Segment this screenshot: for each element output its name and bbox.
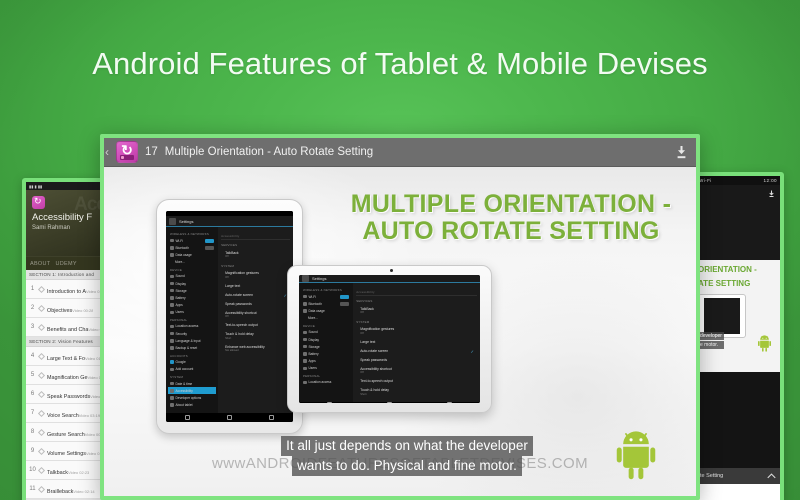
accessibility-item: Speak passwords	[221, 299, 290, 308]
status-diamond-icon	[38, 466, 45, 473]
settings-item-label: Location access	[176, 324, 199, 328]
video-stage[interactable]: MULTIPLE ORIENTATION - AUTO ROTATE SETTI…	[104, 167, 696, 496]
settings-item: Location access	[168, 323, 216, 330]
developer-icon	[170, 396, 174, 400]
display-icon	[170, 282, 174, 286]
status-diamond-icon	[38, 390, 45, 397]
settings-item-label: Developer options	[176, 396, 202, 400]
settings-item-label: Storage	[176, 289, 187, 293]
settings-item: Storage	[168, 287, 216, 294]
status-diamond-icon	[38, 285, 45, 292]
group-header: SYSTEM	[356, 320, 477, 324]
list-item[interactable]: 11 BraillebackVideo 02:14	[26, 480, 108, 499]
list-item[interactable]: 2 ObjectivesVideo 00:28	[26, 299, 108, 318]
item-title: Large Text & Fo	[47, 356, 85, 362]
accessibility-item: Text-to-speech output	[221, 321, 290, 330]
camera-icon	[390, 269, 393, 272]
accessibility-item: Text-to-speech output	[356, 377, 477, 386]
list-item[interactable]: 10 TalkbackVideo 02:23	[26, 461, 108, 480]
bluetooth-icon	[170, 246, 174, 250]
right-slide-title-line2: ATE SETTING	[696, 274, 780, 288]
settings-group-header: DEVICE	[170, 268, 216, 272]
language-icon	[170, 339, 174, 343]
accessibility-item: Accessibility shortcutOff	[356, 364, 477, 377]
settings-item: Storage	[301, 343, 351, 350]
tablet-landscape-screen: Settings WIRELESS & NETWORKS Wi-Fi Bluet…	[299, 275, 480, 403]
tab-about[interactable]: ABOUT	[30, 261, 50, 267]
item-label: Text-to-speech output	[225, 323, 290, 327]
item-label: Auto-rotate screen	[360, 349, 477, 353]
settings-item-label: Sound	[309, 330, 318, 334]
settings-item-label: Language & input	[176, 339, 201, 343]
subtitle-caption: It all just depends on what the develope…	[222, 436, 592, 476]
settings-item: Battery	[168, 294, 216, 301]
right-panel-bottom-bar[interactable]: te Setting	[696, 468, 780, 484]
settings-item-label: Display	[176, 282, 186, 286]
left-panel-status-bar: ▮▮ ▮ ▮▮	[26, 182, 108, 190]
list-item[interactable]: 5 Magnification GeVideo 01:53	[26, 366, 108, 385]
group-header: SERVICES	[356, 299, 477, 303]
bluetooth-toggle[interactable]	[205, 246, 214, 250]
settings-item-label: Bluetooth	[309, 302, 322, 306]
settings-group-header: SYSTEM	[170, 375, 216, 379]
battery-icon	[303, 352, 307, 356]
location-icon	[303, 381, 307, 385]
settings-item: Wi-Fi	[301, 293, 351, 300]
settings-item-label: Data usage	[176, 253, 192, 257]
lecture-number: 17	[145, 146, 158, 158]
settings-item-label: Date & time	[176, 382, 193, 386]
item-sub: Off	[360, 332, 477, 335]
settings-item: Google	[168, 359, 216, 366]
recents-icon[interactable]	[269, 415, 274, 420]
data-usage-icon	[170, 253, 174, 257]
android-nav-bar[interactable]	[166, 413, 293, 422]
bluetooth-icon	[303, 302, 307, 306]
settings-item: Apps	[168, 302, 216, 309]
group-header: SERVICES	[221, 243, 290, 247]
item-label: Speak passwords	[360, 358, 477, 362]
accessibility-item: Magnification gesturesOff	[356, 325, 477, 338]
settings-item-label: More...	[308, 316, 318, 320]
caption-line2: wants to do. Physical and fine motor.	[292, 456, 522, 476]
auto-rotate-icon: ↻	[116, 141, 138, 163]
google-icon	[170, 360, 174, 364]
list-item[interactable]: 8 Gesture SearchVideo 00:37	[26, 423, 108, 442]
settings-item-accessibility[interactable]: Accessibility	[168, 387, 216, 394]
status-diamond-icon	[38, 447, 45, 454]
settings-item-label: Sound	[176, 274, 185, 278]
wifi-icon	[170, 239, 174, 243]
settings-item: Bluetooth	[301, 300, 351, 307]
item-title: Gesture Search	[47, 432, 85, 438]
right-slide-title-line1: ORIENTATION -	[696, 260, 780, 274]
right-slide-caption: developer e motor.	[698, 332, 724, 350]
about-icon	[170, 403, 174, 407]
settings-item-label: Users	[309, 366, 317, 370]
item-meta: Video 00:28	[72, 308, 93, 313]
settings-item-label: Add account	[176, 367, 194, 371]
item-title: Brailleback	[47, 489, 73, 495]
item-number: 10	[29, 467, 36, 473]
item-sub: Short	[225, 337, 290, 340]
accessibility-item-auto-rotate: Auto-rotate screen✓	[356, 346, 477, 355]
slide-title-line1: MULTIPLE ORIENTATION -	[326, 191, 696, 218]
settings-item: More...	[301, 315, 351, 322]
accessibility-item: Large text	[221, 281, 290, 290]
settings-item-label: Storage	[309, 345, 320, 349]
left-background-screenshot: ▮▮ ▮ ▮▮ Acc Accessibility F Sami Rahman …	[22, 178, 112, 500]
chevron-up-icon[interactable]	[767, 473, 776, 479]
add-account-icon	[170, 368, 174, 372]
lecture-title: Multiple Orientation - Auto Rotate Setti…	[165, 146, 373, 158]
tablet-portrait-device: Settings WIRELESS & NETWORKS Wi-Fi Bluet…	[156, 199, 303, 434]
settings-item-label: Battery	[176, 296, 186, 300]
status-diamond-icon	[38, 409, 45, 416]
item-title: Objectives	[47, 308, 72, 314]
item-meta: Video 03:19	[79, 413, 100, 418]
right-bottom-label: te Setting	[700, 473, 723, 479]
settings-item: Developer options	[168, 394, 216, 401]
settings-item-label: Google	[176, 360, 186, 364]
item-sub: Short	[360, 393, 477, 396]
settings-item-label: Users	[176, 310, 184, 314]
item-sub: Off	[360, 371, 477, 374]
list-item[interactable]: 1 Introduction to AVideo 01:39	[26, 280, 108, 299]
storage-icon	[170, 289, 174, 293]
item-label: Accessibility shortcut	[360, 367, 477, 371]
settings-item: Security	[168, 330, 216, 337]
tab-udemy[interactable]: UDEMY	[55, 261, 76, 267]
apps-icon	[170, 303, 174, 307]
item-label: Touch & hold delay	[225, 332, 290, 336]
left-panel-tabs[interactable]: ABOUT UDEMY	[26, 256, 108, 270]
accessibility-item: Touch & hold delayShort	[356, 386, 477, 399]
settings-left-list[interactable]: WIRELESS & NETWORKS Wi-Fi Bluetooth Data…	[299, 283, 353, 402]
settings-group-header: DEVICE	[303, 324, 351, 328]
download-icon[interactable]	[675, 145, 688, 160]
accessibility-item: Magnification gesturesOff	[221, 269, 290, 282]
right-background-screenshot: Wi-Fi 12:00 ORIENTATION - ATE SETTING de…	[692, 172, 784, 500]
player-header: ‹ ↻ 17 Multiple Orientation - Auto Rotat…	[104, 138, 696, 167]
accessibility-item: Large text	[356, 337, 477, 346]
wifi-toggle[interactable]	[340, 295, 349, 299]
users-icon	[170, 311, 174, 315]
list-item[interactable]: 7 Voice SearchVideo 03:19	[26, 404, 108, 423]
accessibility-item: TalkBackOff	[221, 248, 290, 261]
sound-icon	[303, 331, 307, 335]
item-meta: Video 02:23	[68, 470, 89, 475]
item-number: 7	[29, 410, 36, 416]
settings-item-label: Security	[176, 332, 188, 336]
location-icon	[170, 325, 174, 329]
status-left: Wi-Fi	[699, 178, 712, 183]
display-icon	[303, 338, 307, 342]
accessibility-detail-list[interactable]: Accessibility SERVICES TalkBackOff SYSTE…	[218, 227, 293, 413]
item-sub: Not allowed	[225, 349, 290, 352]
settings-app-bar-title: Settings	[179, 219, 193, 224]
android-nav-bar[interactable]	[299, 402, 480, 403]
settings-item-label: Apps	[309, 359, 316, 363]
settings-item: About tablet	[168, 402, 216, 409]
item-title: Voice Search	[47, 413, 79, 419]
accessibility-item: Accessibility shortcutOff	[221, 308, 290, 321]
right-panel-status-bar: Wi-Fi 12:00	[696, 176, 780, 185]
chevron-left-icon[interactable]: ‹	[105, 145, 109, 159]
list-item[interactable]: 4 Large Text & FoVideo 01:39	[26, 347, 108, 366]
item-title: Talkback	[47, 470, 68, 476]
status-diamond-icon	[38, 371, 45, 378]
home-icon[interactable]	[227, 415, 232, 420]
item-sub: Off	[225, 255, 290, 258]
tablet-portrait-screen: Settings WIRELESS & NETWORKS Wi-Fi Bluet…	[166, 211, 293, 422]
android-action-bar: Settings	[299, 275, 480, 283]
settings-item: Display	[301, 336, 351, 343]
right-panel-slide: ORIENTATION - ATE SETTING developer e mo…	[696, 260, 780, 372]
settings-item-label: Wi-Fi	[176, 239, 183, 243]
item-title: Speak Passwords	[47, 394, 90, 400]
accessibility-item: Speak passwords	[356, 355, 477, 364]
settings-left-list[interactable]: WIRELESS & NETWORKS Wi-Fi Bluetooth Data…	[166, 227, 218, 413]
settings-item-label: Wi-Fi	[309, 295, 316, 299]
settings-item: Users	[168, 309, 216, 316]
accessibility-item: Touch & hold delayShort	[221, 330, 290, 343]
status-diamond-icon	[38, 323, 45, 330]
accessibility-icon	[170, 389, 174, 393]
accessibility-item-auto-rotate: Auto-rotate screen✓	[221, 290, 290, 299]
right-panel-dark-area	[696, 372, 780, 468]
accessibility-item: TalkBackOff	[356, 304, 477, 317]
security-icon	[170, 332, 174, 336]
settings-group-header: PERSONAL	[170, 318, 216, 322]
item-number: 9	[29, 448, 36, 454]
settings-group-header: WIRELESS & NETWORKS	[170, 232, 216, 236]
item-label: Touch & hold delay	[360, 388, 477, 392]
settings-item: Bluetooth	[168, 244, 216, 251]
settings-item: Sound	[168, 273, 216, 280]
settings-item: Data usage	[168, 251, 216, 258]
section-header: SECTION 1: Introduction and	[26, 270, 108, 280]
group-header: SYSTEM	[221, 264, 290, 268]
apps-icon	[303, 359, 307, 363]
settings-item: Data usage	[301, 307, 351, 314]
settings-item: Location access	[301, 379, 351, 386]
right-caption-line1: developer	[698, 332, 724, 340]
item-label: Large text	[225, 284, 290, 288]
settings-item: Wi-Fi	[168, 237, 216, 244]
status-diamond-icon	[38, 485, 45, 492]
settings-item: More...	[168, 259, 216, 266]
accessibility-detail-list[interactable]: Accessibility SERVICES TalkBackOff SYSTE…	[353, 283, 480, 402]
settings-item: Apps	[301, 358, 351, 365]
section-header: SECTION 2: Vision Features	[26, 337, 108, 347]
storage-icon	[303, 345, 307, 349]
settings-gear-icon	[169, 218, 176, 225]
course-author: Sami Rahman	[32, 225, 102, 231]
right-caption-line2: e motor.	[698, 341, 724, 349]
checkmark-icon[interactable]: ✓	[471, 349, 474, 354]
status-diamond-icon	[38, 428, 45, 435]
home-icon[interactable]	[387, 402, 392, 403]
status-diamond-icon	[38, 352, 45, 359]
settings-item: Users	[301, 365, 351, 372]
settings-group-header: WIRELESS & NETWORKS	[303, 288, 351, 292]
settings-gear-icon	[302, 275, 309, 282]
accessibility-item: Enhance web accessibilityNot allowed	[221, 342, 290, 355]
settings-item-label: Battery	[309, 352, 319, 356]
item-label: Large text	[360, 340, 477, 344]
item-label: Auto-rotate screen	[225, 293, 290, 297]
settings-app-bar-title: Settings	[312, 276, 326, 281]
item-title: Benefits and Cha	[47, 327, 88, 333]
settings-item-label: Apps	[176, 303, 183, 307]
accessibility-title: Accessibility	[356, 290, 477, 294]
data-usage-icon	[303, 309, 307, 313]
item-number: 11	[29, 486, 36, 492]
item-title: Volume Settings	[47, 451, 86, 457]
settings-item-label: About tablet	[176, 403, 193, 407]
back-icon[interactable]	[185, 415, 190, 420]
settings-group-header: PERSONAL	[303, 374, 351, 378]
settings-item: Battery	[301, 350, 351, 357]
curriculum-list[interactable]: SECTION 1: Introduction and 1 Introducti…	[26, 270, 108, 500]
slide-title: MULTIPLE ORIENTATION - AUTO ROTATE SETTI…	[326, 191, 696, 245]
item-number: 2	[29, 305, 36, 311]
settings-group-header: ACCOUNTS	[170, 354, 216, 358]
sound-icon	[170, 275, 174, 279]
settings-item: Backup & reset	[168, 344, 216, 351]
item-sub: Off	[225, 315, 290, 318]
settings-item: Sound	[301, 329, 351, 336]
date-time-icon	[170, 382, 174, 386]
back-icon[interactable]	[327, 402, 332, 403]
android-action-bar: Settings	[166, 216, 293, 227]
item-title: Introduction to A	[47, 289, 86, 295]
video-player: ‹ ↻ 17 Multiple Orientation - Auto Rotat…	[100, 134, 700, 500]
item-label: Speak passwords	[225, 302, 290, 306]
auto-rotate-icon	[32, 196, 45, 209]
item-label: Text-to-speech output	[360, 379, 477, 383]
left-panel-course-hero: Acc Accessibility F Sami Rahman	[26, 190, 108, 256]
settings-item: Language & input	[168, 337, 216, 344]
android-robot-icon	[757, 335, 772, 352]
status-diamond-icon	[38, 304, 45, 311]
settings-item-label: More...	[175, 260, 185, 264]
backup-icon	[170, 346, 174, 350]
item-sub: Off	[225, 276, 290, 279]
settings-item-label: Accessibility	[176, 389, 193, 393]
recents-icon[interactable]	[447, 402, 452, 403]
caption-line1: It all just depends on what the develope…	[281, 436, 533, 456]
settings-item: Display	[168, 280, 216, 287]
settings-item: Add account	[168, 366, 216, 373]
status-time: 12:00	[764, 178, 778, 183]
item-label: Accessibility shortcut	[225, 311, 290, 315]
settings-item-label: Display	[309, 338, 319, 342]
item-label: TalkBack	[225, 251, 290, 255]
wifi-icon	[303, 295, 307, 299]
list-item[interactable]: 6 Speak PasswordsVideo 01:25	[26, 385, 108, 404]
item-sub: Off	[360, 311, 477, 314]
item-meta: Video 02:14	[73, 489, 94, 494]
item-number: 1	[29, 286, 36, 292]
tablet-landscape-device: Settings WIRELESS & NETWORKS Wi-Fi Bluet…	[287, 265, 492, 413]
item-number: 8	[29, 429, 36, 435]
settings-item-label: Backup & reset	[176, 346, 198, 350]
item-label: Magnification gestures	[225, 271, 290, 275]
accessibility-title: Accessibility	[221, 234, 290, 238]
battery-icon	[170, 296, 174, 300]
item-number: 4	[29, 353, 36, 359]
settings-item: Date & time	[168, 380, 216, 387]
download-icon[interactable]	[768, 190, 775, 198]
bluetooth-toggle[interactable]	[340, 302, 349, 306]
list-item[interactable]: 9 Volume SettingsVideo 01:44	[26, 442, 108, 461]
settings-item-label: Data usage	[309, 309, 325, 313]
list-item[interactable]: 3 Benefits and ChaVideo 03:17	[26, 318, 108, 337]
item-number: 5	[29, 372, 36, 378]
item-label: Magnification gestures	[360, 327, 477, 331]
slide-title-line2: AUTO ROTATE SETTING	[326, 218, 696, 245]
settings-item-label: Bluetooth	[176, 246, 189, 250]
android-robot-icon	[614, 430, 658, 480]
item-number: 6	[29, 391, 36, 397]
page-title: Android Features of Tablet & Mobile Devi…	[0, 46, 800, 82]
item-number: 3	[29, 324, 36, 330]
item-label: TalkBack	[360, 307, 477, 311]
right-panel-video-area	[696, 185, 780, 260]
item-title: Magnification Ge	[47, 375, 87, 381]
settings-item-label: Location access	[309, 380, 332, 384]
users-icon	[303, 367, 307, 371]
wifi-toggle[interactable]	[205, 239, 214, 243]
